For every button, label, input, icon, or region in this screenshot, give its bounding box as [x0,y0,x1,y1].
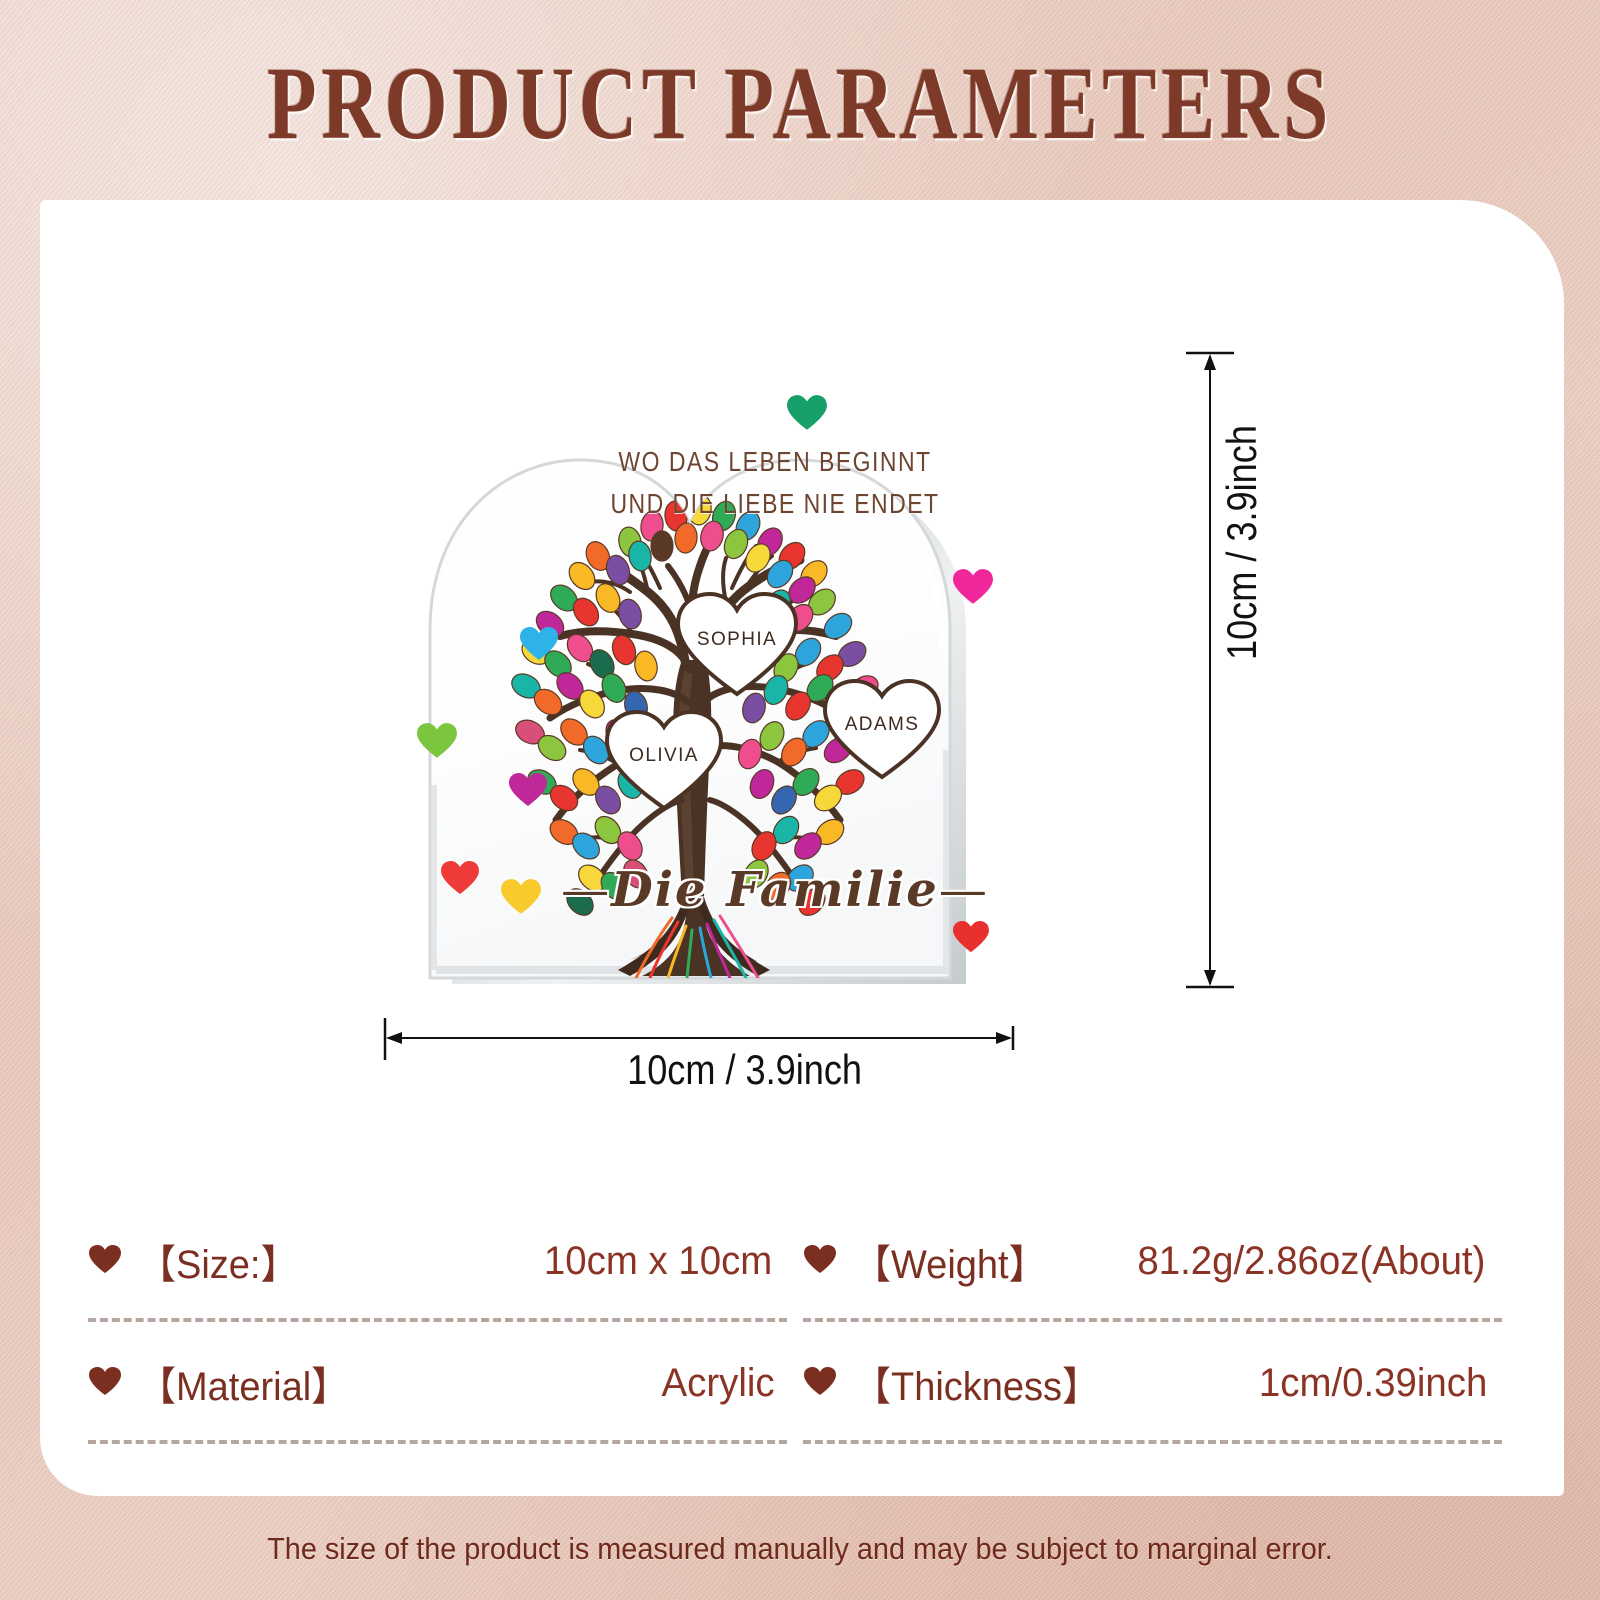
vertical-dimension-label: 10cm / 3.9inch [1218,425,1266,660]
name-heart-label: ADAMS [819,675,945,783]
accent-heart-red-left [440,860,480,896]
spec-divider [803,1318,1502,1322]
engraved-quote-line-1: WO DAS LEBEN BEGINNT [582,446,968,478]
engraved-quote-line-2: UND DIE LIEBE NIE ENDET [582,488,968,520]
page-title: PRODUCT PARAMETERS [176,52,1424,156]
name-heart-label: SOPHIA [672,588,802,700]
accent-heart-cyan-left [519,626,559,662]
spec-value: 1cm/0.39inch [1259,1361,1495,1406]
spec-label: 【Weight】 [853,1232,1047,1290]
accent-heart-lime-left [416,722,458,760]
spec-cell-size: 【Size:】 10cm x 10cm [88,1218,803,1322]
spec-cell-material: 【Material】 Acrylic [88,1340,803,1444]
accent-heart-yellow-left [500,878,542,916]
spec-row: 【Material】 Acrylic 【Thickness】 1cm/0.39i… [88,1340,1518,1444]
name-heart-label: OLIVIA [601,706,727,814]
spec-label: 【Thickness】 [853,1354,1100,1412]
spec-row: 【Size:】 10cm x 10cm 【Weight】 81.2g/2.86o… [88,1218,1518,1322]
heart-icon [803,1366,837,1396]
horizontal-dimension-label: 10cm / 3.9inch [627,1046,862,1094]
accent-heart-green-top [786,394,828,432]
spec-cell-thickness: 【Thickness】 1cm/0.39inch [803,1340,1518,1444]
spec-value: 10cm x 10cm [544,1239,780,1284]
name-heart-adams: ADAMS [819,675,945,783]
spec-divider [88,1318,787,1322]
heart-icon [803,1244,837,1274]
spec-table: 【Size:】 10cm x 10cm 【Weight】 81.2g/2.86o… [88,1218,1518,1444]
spec-label: 【Material】 [138,1354,349,1412]
family-script-text: Die Familie [611,862,939,918]
swash-right: — [939,862,989,918]
accent-heart-pink-right [952,568,994,606]
spec-divider [88,1440,787,1444]
spec-label: 【Size:】 [138,1232,298,1290]
family-script-label: —Die Familie— [560,862,990,918]
accent-heart-purple-left [508,772,548,808]
swash-left: — [561,862,611,918]
spec-cell-weight: 【Weight】 81.2g/2.86oz(About) [803,1218,1518,1322]
footer-note: The size of the product is measured manu… [56,1531,1544,1567]
name-heart-sophia: SOPHIA [672,588,802,700]
spec-value: 81.2g/2.86oz(About) [1137,1239,1493,1284]
heart-icon [88,1244,122,1274]
name-heart-olivia: OLIVIA [601,706,727,814]
spec-divider [803,1440,1502,1444]
heart-icon [88,1366,122,1396]
spec-value: Acrylic [662,1361,783,1406]
accent-heart-red-right [952,920,990,954]
